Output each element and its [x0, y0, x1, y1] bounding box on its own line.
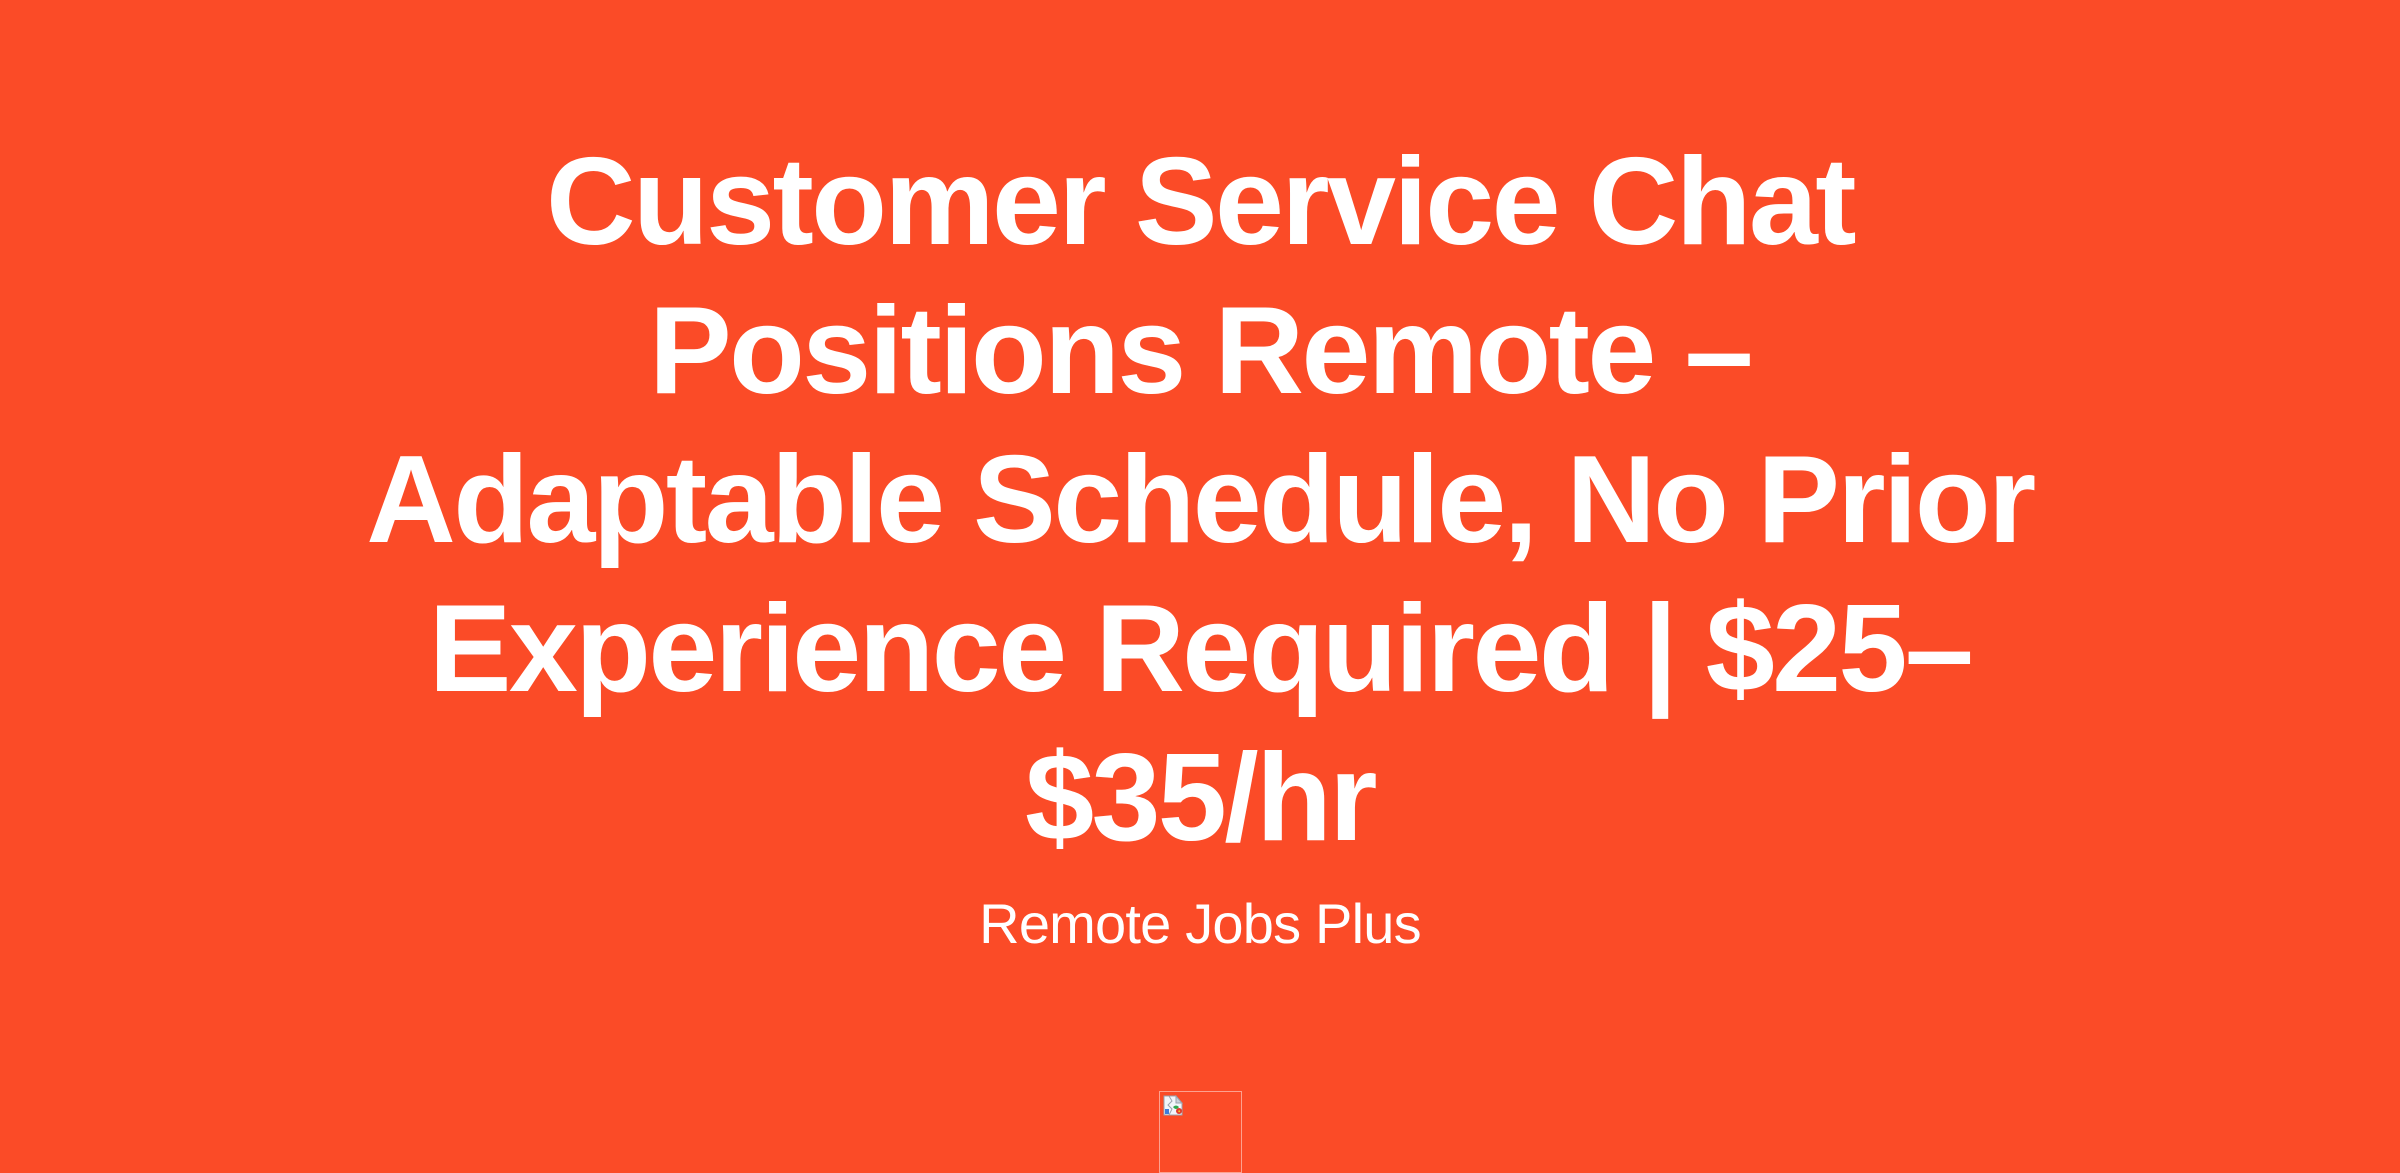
broken-image-placeholder	[1159, 1091, 1242, 1173]
page-title: Customer Service Chat Positions Remote –…	[350, 128, 2050, 873]
media-block	[0, 957, 2400, 1173]
page-root: Customer Service Chat Positions Remote –…	[0, 0, 2400, 1173]
article-header: Customer Service Chat Positions Remote –…	[0, 0, 2400, 1173]
site-name: Remote Jobs Plus	[979, 873, 1421, 957]
broken-image-icon	[1163, 1095, 1187, 1118]
